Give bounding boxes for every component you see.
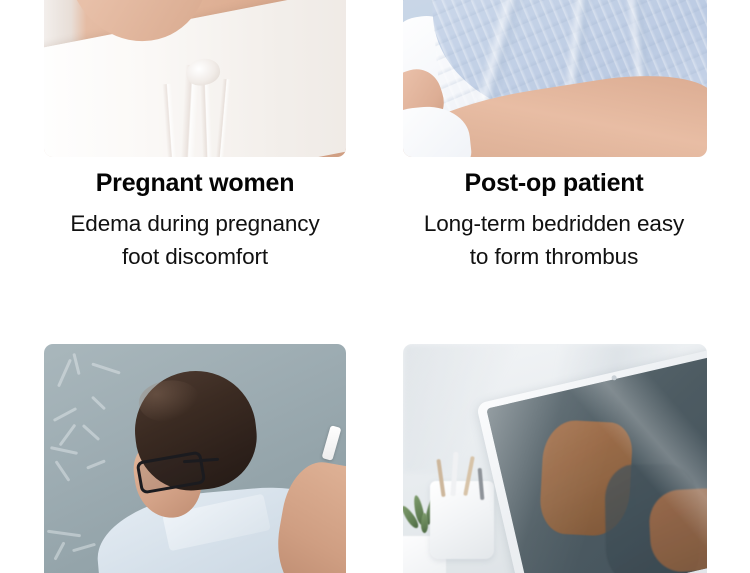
feature-title: Post-op patient (379, 168, 729, 198)
feature-card-office-worker (403, 344, 707, 573)
feature-description: Edema during pregnancy foot discomfort (20, 207, 370, 273)
pregnant-belly-photo (44, 0, 346, 157)
feature-title: Pregnant women (20, 168, 370, 198)
chalk-stick (321, 426, 341, 462)
feature-text-pregnant-women: Pregnant women Edema during pregnancy fo… (20, 168, 370, 273)
laptop-on-desk-photo (403, 344, 707, 573)
pen-cup (430, 481, 494, 559)
feature-card-post-op-patient (403, 0, 707, 157)
pregnant-belly-photo-body (44, 0, 346, 157)
feature-card-pregnant-women (44, 0, 346, 157)
feature-card-teacher (44, 344, 346, 573)
feature-description: Long-term bedridden easy to form thrombu… (379, 207, 729, 273)
bedridden-patient-photo (403, 0, 707, 157)
laptop-on-desk-photo-body (403, 344, 707, 573)
webcam-icon (611, 374, 617, 380)
succulent-leaf (421, 513, 428, 533)
teacher-at-chalkboard-photo (44, 344, 346, 573)
feature-text-post-op-patient: Post-op patient Long-term bedridden easy… (379, 168, 729, 273)
bedridden-patient-photo-body (403, 0, 707, 157)
feature-grid-page: Pregnant women Edema during pregnancy fo… (0, 0, 750, 555)
teacher-at-chalkboard-photo-body (44, 344, 346, 573)
